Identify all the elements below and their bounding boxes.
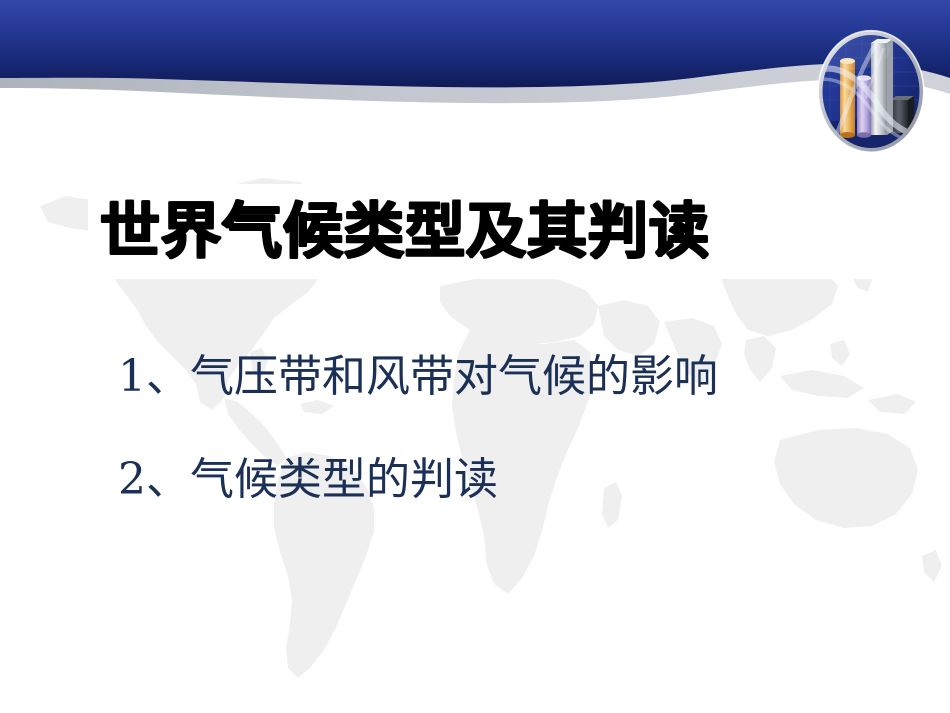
slide-body-placeholder[interactable]: 1、气压带和风带对气候的影响 2、气候类型的判读 (118, 352, 918, 505)
slide-title-placeholder[interactable]: 世界气候类型及其判读 (88, 184, 878, 279)
continent-africa-north (440, 276, 598, 344)
list-item: 1、气压带和风带对气候的影响 (118, 352, 918, 401)
page-title: 世界气候类型及其判读 (88, 202, 710, 262)
banner-blue-swoop (0, 0, 950, 87)
presentation-slide: 世界气候类型及其判读 1、气压带和风带对气候的影响 2、气候类型的判读 (0, 0, 950, 713)
top-blue-banner (0, 0, 950, 170)
bar-chart-emblem-icon (816, 28, 926, 155)
region-arabia (598, 300, 660, 356)
list-item: 2、气候类型的判读 (118, 455, 918, 504)
banner-gray-band (0, 0, 950, 103)
island-new-zealand (922, 550, 942, 582)
